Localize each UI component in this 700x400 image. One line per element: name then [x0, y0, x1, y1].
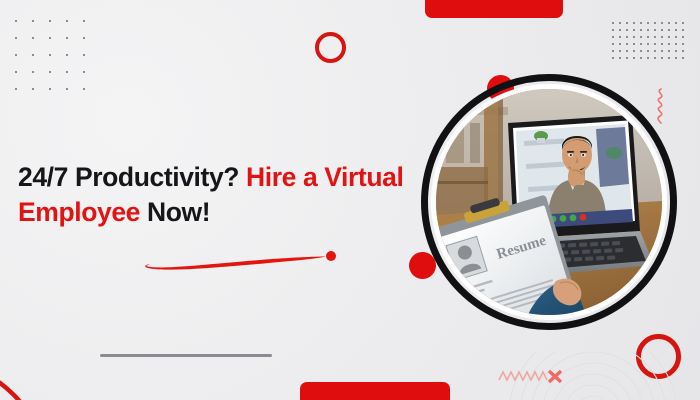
- dot-grid-pattern-right: [612, 22, 684, 59]
- zigzag-decoration: [497, 368, 565, 384]
- red-ring-top: [315, 32, 346, 63]
- headline-part-3: Now!: [140, 197, 210, 227]
- divider-rule: [100, 354, 272, 357]
- dot-grid-pattern-left: [15, 20, 85, 90]
- promo-banner: 24/7 Productivity? Hire a Virtual Employ…: [0, 0, 700, 400]
- hero-photo: Resume: [421, 74, 677, 330]
- headline-part-1: 24/7 Productivity?: [18, 162, 246, 192]
- photo-image: Resume: [436, 89, 662, 315]
- red-rectangle-bottom: [300, 382, 450, 400]
- brush-underline-decoration: [140, 246, 340, 278]
- red-rectangle-top: [425, 0, 563, 18]
- corner-arc-decoration: [0, 318, 120, 400]
- page-title: 24/7 Productivity? Hire a Virtual Employ…: [18, 160, 438, 230]
